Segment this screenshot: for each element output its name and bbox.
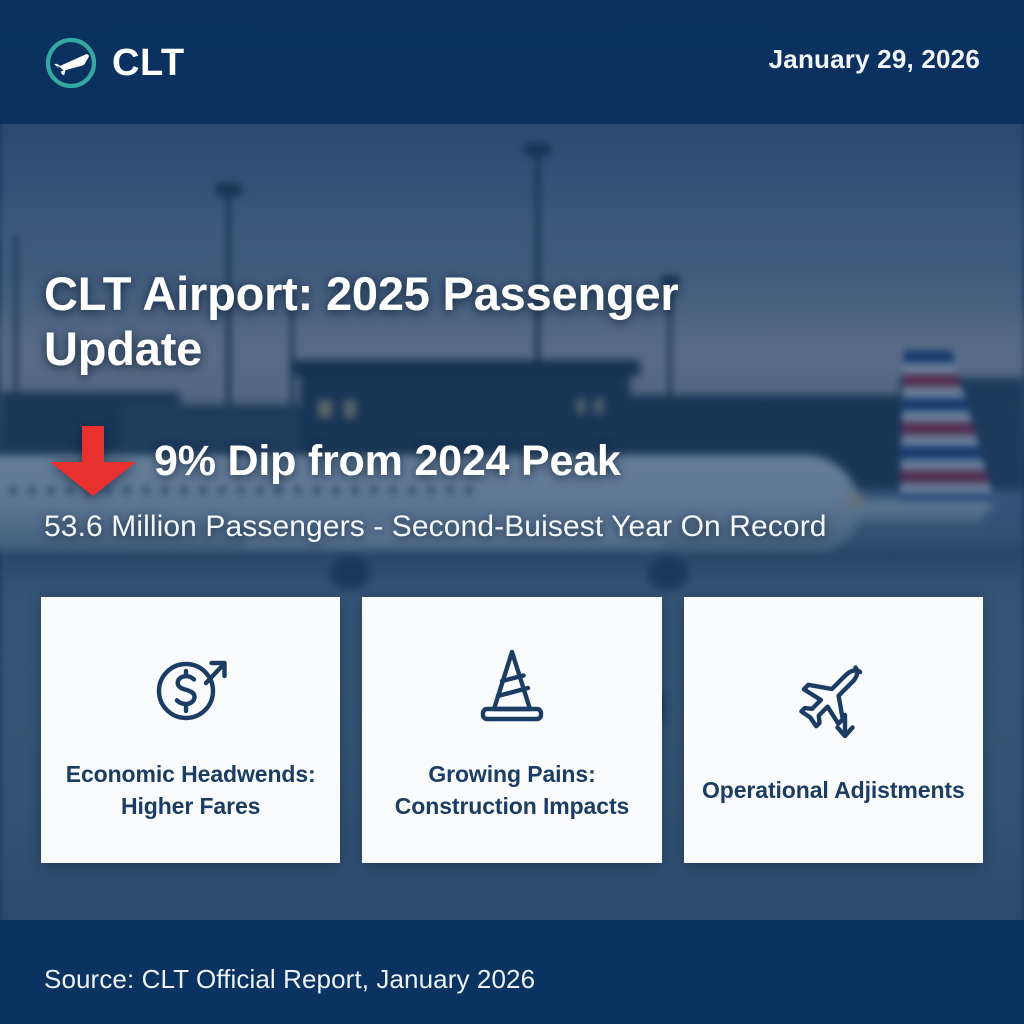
main-content: CLT Airport: 2025 Passenger Update 9% Di…: [0, 124, 1024, 920]
highlight-card[interactable]: Economic Headwends: Higher Fares: [41, 597, 340, 863]
card-label: Operational Adjistments: [690, 775, 977, 807]
arrow-down-icon: [44, 424, 142, 498]
header-bar: CLT January 29, 2026: [0, 0, 1024, 124]
page-title: CLT Airport: 2025 Passenger Update: [44, 267, 834, 376]
card-label: Economic Headwends: Higher Fares: [41, 759, 340, 822]
airplane-in-circle-logo-icon: [44, 36, 98, 90]
logo-wordmark: CLT: [112, 44, 185, 82]
highlight-card[interactable]: Growing Pains: Construction Impacts: [362, 597, 661, 863]
subheadline: 53.6 Million Passengers - Second-Buisest…: [44, 510, 974, 544]
brand-logo[interactable]: CLT: [44, 36, 185, 90]
source-note: Source: CLT Official Report, January 202…: [44, 964, 535, 995]
highlight-card[interactable]: Operational Adjistments: [684, 597, 983, 863]
dip-callout: 9% Dip from 2024 Peak: [44, 424, 621, 498]
dollar-circle-up-arrow-icon: [145, 637, 237, 733]
highlight-cards: Economic Headwends: Higher Fares Growing…: [41, 597, 983, 863]
header-date: January 29, 2026: [769, 44, 980, 75]
dip-headline: 9% Dip from 2024 Peak: [154, 437, 621, 486]
airplane-down-arrow-icon: [787, 653, 879, 749]
card-label: Growing Pains: Construction Impacts: [362, 759, 661, 822]
traffic-cone-icon: [466, 637, 558, 733]
footer-bar: Source: CLT Official Report, January 202…: [0, 920, 1024, 1024]
infographic-canvas: CLT January 29, 2026 CLT Airport: 2025 P…: [0, 0, 1024, 1024]
